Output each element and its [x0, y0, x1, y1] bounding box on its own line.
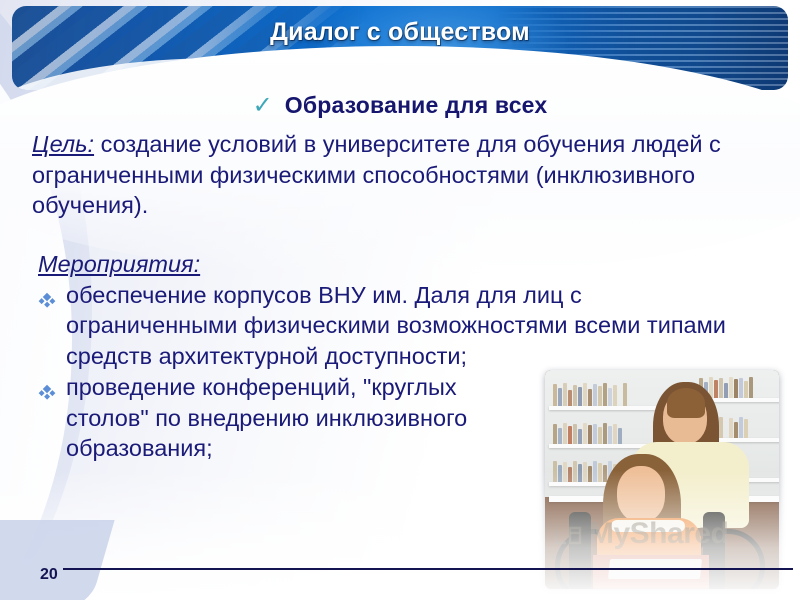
goal-text: создание условий в университете для обуч…	[32, 131, 721, 218]
list-item-text: обеспечение корпусов ВНУ им. Даля для ли…	[66, 282, 726, 369]
diamond-bullet-icon	[38, 378, 56, 396]
list-item: проведение конференций, "круглых столов"…	[38, 372, 536, 464]
bookshelf-board	[549, 406, 669, 410]
page-number: 20	[40, 566, 58, 584]
section-heading-label: Образование для всех	[285, 92, 548, 119]
section-heading: ✓ Образование для всех	[0, 92, 800, 119]
photo-person-back-fringe	[667, 388, 705, 418]
goal-paragraph: Цель: создание условий в университете дл…	[32, 129, 738, 221]
check-icon: ✓	[253, 94, 273, 118]
slide-title: Диалог с обществом	[12, 18, 788, 47]
book-row	[553, 382, 665, 406]
list-item-text: проведение конференций, "круглых столов"…	[66, 374, 467, 461]
goal-label: Цель:	[32, 131, 94, 157]
list-item: обеспечение корпусов ВНУ им. Даля для ли…	[38, 280, 756, 372]
footer-divider	[63, 568, 793, 570]
slide: Диалог с обществом ✓ Образование для все…	[0, 0, 800, 600]
activities-label: Мероприятия:	[38, 251, 800, 278]
diamond-bullet-icon	[38, 286, 56, 304]
bottom-fade	[0, 470, 800, 600]
book-row	[553, 422, 665, 444]
book-row	[699, 376, 779, 398]
